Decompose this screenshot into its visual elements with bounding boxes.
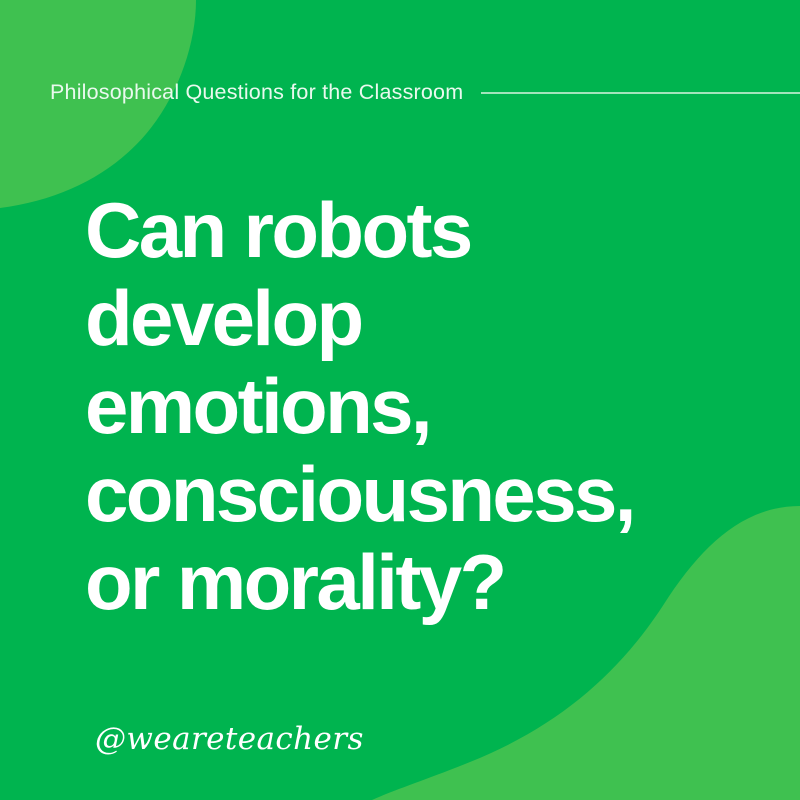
headline-line-5: or morality? — [85, 538, 745, 626]
headline-line-2: develop — [85, 274, 745, 362]
header-eyebrow-row: Philosophical Questions for the Classroo… — [50, 78, 800, 108]
page-title: Can robots develop emotions, consciousne… — [85, 186, 745, 626]
headline-line-4: consciousness, — [85, 450, 745, 538]
social-handle: @weareteachers — [95, 724, 364, 755]
quote-card: Philosophical Questions for the Classroo… — [0, 0, 800, 800]
horizontal-rule-icon — [481, 92, 800, 94]
headline-line-1: Can robots — [85, 186, 745, 274]
eyebrow-label: Philosophical Questions for the Classroo… — [50, 82, 463, 104]
headline-line-3: emotions, — [85, 362, 745, 450]
